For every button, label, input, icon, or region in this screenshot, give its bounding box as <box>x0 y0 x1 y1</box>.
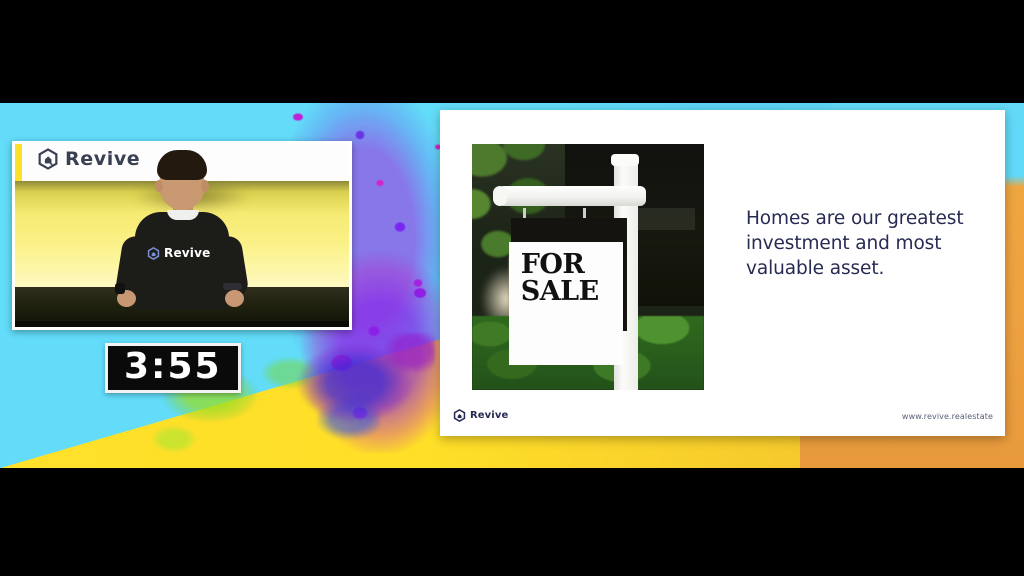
sign-text-line-2: SALE <box>521 279 623 305</box>
letterbox-bottom <box>0 468 1024 576</box>
slide-headline: Homes are our greatest investment and mo… <box>746 206 978 281</box>
presenter-ear-left <box>155 180 163 192</box>
sign-text: FOR SALE <box>521 252 623 305</box>
slide-footer-logo: Revive <box>453 409 508 422</box>
slide-footer: Revive www.revive.realestate <box>440 404 1005 436</box>
presenter-wristwatch <box>223 283 242 290</box>
sign-crossarm <box>498 186 646 206</box>
slide-body: FOR SALE Homes are our greatest investme… <box>440 110 1005 404</box>
stage-banner-stripe <box>15 144 22 181</box>
revive-hexagon-icon <box>37 148 59 170</box>
countdown-timer-value: 3:55 <box>124 349 222 385</box>
live-video-area: Revive <box>0 103 1024 468</box>
presenter-hand-right <box>225 290 244 307</box>
presenter-figure: Revive <box>107 150 257 310</box>
sign-text-line-1: FOR <box>521 252 623 278</box>
presenter-hair <box>157 150 207 180</box>
presenter-torso <box>135 212 229 310</box>
presenter-clicker <box>115 283 125 294</box>
slide-footer-wordmark: Revive <box>470 410 508 421</box>
presenter-shirt-logo: Revive <box>147 246 210 260</box>
presenter-ear-right <box>201 180 209 192</box>
speaker-video-feed: Revive <box>15 144 349 327</box>
paint-splatter-blue <box>245 333 435 463</box>
revive-hexagon-icon <box>147 247 160 260</box>
presenter-shirt-wordmark: Revive <box>164 246 210 260</box>
for-sale-sign-photo: FOR SALE <box>472 144 704 390</box>
sign-crossarm-end <box>493 186 507 206</box>
presenter-collar <box>167 210 199 220</box>
slide-footer-url: www.revive.realestate <box>902 412 993 421</box>
revive-hexagon-icon <box>453 409 466 422</box>
sign-post-cap <box>611 154 639 166</box>
speaker-video-tile[interactable]: Revive <box>12 141 352 330</box>
presentation-slide[interactable]: FOR SALE Homes are our greatest investme… <box>440 110 1005 436</box>
letterbox-top <box>0 0 1024 103</box>
countdown-timer: 3:55 <box>105 343 241 393</box>
broadcast-stage: Revive <box>0 0 1024 576</box>
